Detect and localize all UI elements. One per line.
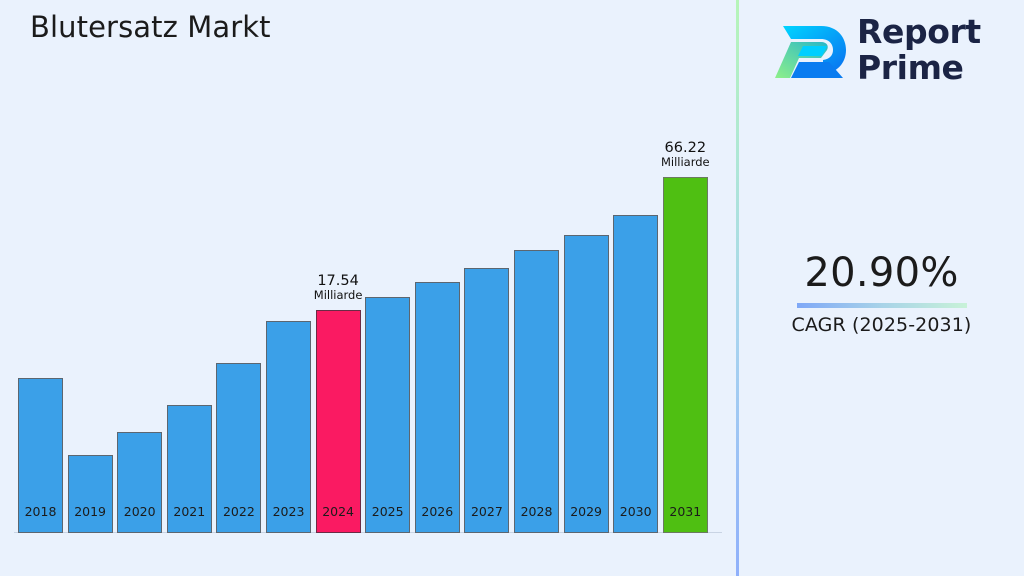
cagr-caption: CAGR (2025-2031) [739,314,1024,336]
report-prime-logo: Report Prime [769,12,1001,92]
chart-panel: Blutersatz Markt 20182019202020212022202… [0,0,737,576]
x-axis-tick-2031: 2031 [651,504,720,519]
bar-2025[interactable] [365,297,410,533]
bar-2027[interactable] [464,268,509,533]
report-prime-logo-mark-icon [769,16,849,88]
bar-2023[interactable] [266,321,311,533]
screenshot-root: Blutersatz Markt 20182019202020212022202… [0,0,1024,576]
logo-line-1: Report [857,14,981,50]
bar-2019[interactable] [68,455,113,533]
bar-2028[interactable] [514,250,559,533]
bar-2031[interactable] [663,177,708,533]
bar-2030[interactable] [613,215,658,533]
bar-2026[interactable] [415,282,460,533]
bar-chart: 20182019202020212022202317.54Milliarde20… [0,0,737,576]
bar-value-label-2031: 66.22Milliarde [635,140,736,169]
report-prime-wordmark: Report Prime [857,14,981,85]
bar-value-2031: 66.22 [635,140,736,156]
bar-unit-2031: Milliarde [635,156,736,169]
cagr-divider-rule [797,303,967,308]
bar-2029[interactable] [564,235,609,533]
info-panel: Report Prime 20.90% CAGR (2025-2031) [739,0,1024,576]
bar-value-2024: 17.54 [288,273,389,289]
cagr-value: 20.90% [739,252,1024,294]
bar-2024[interactable] [316,310,361,533]
logo-line-2: Prime [857,50,981,86]
cagr-block: 20.90% CAGR (2025-2031) [739,252,1024,336]
